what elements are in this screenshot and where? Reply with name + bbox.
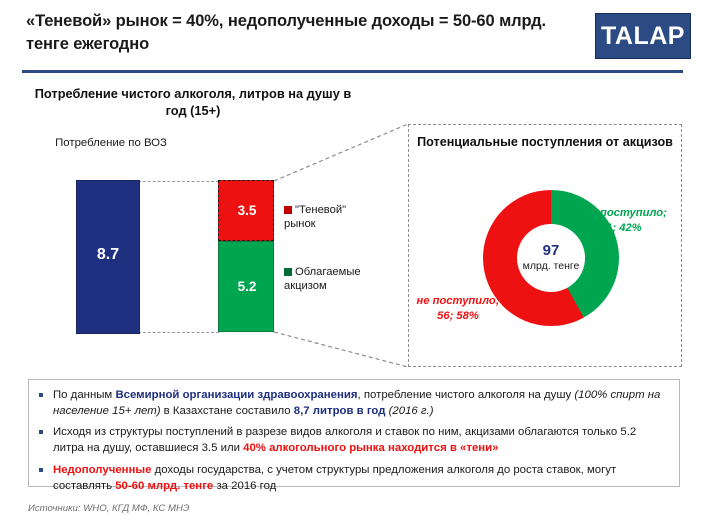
legend-item-taxed-excise: Облагаемые акцизом (284, 265, 380, 293)
bullet-text-0: По данным Всемирной организации здравоох… (53, 388, 669, 419)
donut-center-value: 97 (543, 243, 560, 260)
guide-line-top (138, 181, 219, 182)
legend-item-shadow-market: "Теневой" рынок (284, 203, 380, 231)
legend-label-shadow-market: "Теневой" рынок (284, 204, 346, 230)
bar-chart-title: Потребление чистого алкоголя, литров на … (28, 86, 358, 120)
bar-taxed-value-label: 5.2 (219, 279, 275, 294)
who-consumption-label: Потребление по ВОЗ (46, 136, 176, 151)
bar-who-total: 8.7 (76, 180, 140, 334)
slide-header: «Теневой» рынок = 40%, недополученные до… (0, 0, 705, 72)
list-item: По данным Всемирной организации здравоох… (39, 388, 669, 419)
donut-label-received: поступило; 41; 42% (600, 206, 686, 235)
list-item: Исходя из структуры поступлений в разрез… (39, 425, 669, 456)
findings-textbox: По данным Всемирной организации здравоох… (28, 379, 680, 487)
donut-label-not-received: не поступило; 56; 58% (412, 294, 504, 323)
donut-chart-title: Потенциальные поступления от акцизов (408, 134, 682, 151)
bar-shadow-market: 3.5 (218, 180, 274, 241)
logo-text: TALAP (601, 24, 685, 49)
bullet-square-icon (39, 388, 53, 397)
header-divider (22, 70, 683, 73)
sources-footer: Источники: WHO, КГД МФ, КС МНЭ (28, 503, 190, 514)
bullet-text-2: Недополученные доходы государства, с уче… (53, 463, 669, 494)
bullet-square-icon (39, 463, 53, 472)
bar-shadow-value-label: 3.5 (219, 203, 275, 218)
bar-taxed-excise: 5.2 (218, 241, 274, 332)
donut-center: 97 млрд. тенге (517, 224, 585, 292)
legend-swatch-shadow-market (284, 206, 292, 214)
page-title: «Теневой» рынок = 40%, недополученные до… (26, 10, 586, 57)
talap-logo: TALAP (595, 13, 691, 59)
donut-center-unit: млрд. тенге (523, 260, 580, 273)
list-item: Недополученные доходы государства, с уче… (39, 463, 669, 494)
bullet-text-1: Исходя из структуры поступлений в разрез… (53, 425, 669, 456)
bullet-square-icon (39, 425, 53, 434)
legend-swatch-taxed-excise (284, 268, 292, 276)
guide-line-bottom (138, 332, 219, 333)
bar-who-value-label: 8.7 (77, 246, 139, 264)
legend-label-taxed-excise: Облагаемые акцизом (284, 266, 361, 292)
